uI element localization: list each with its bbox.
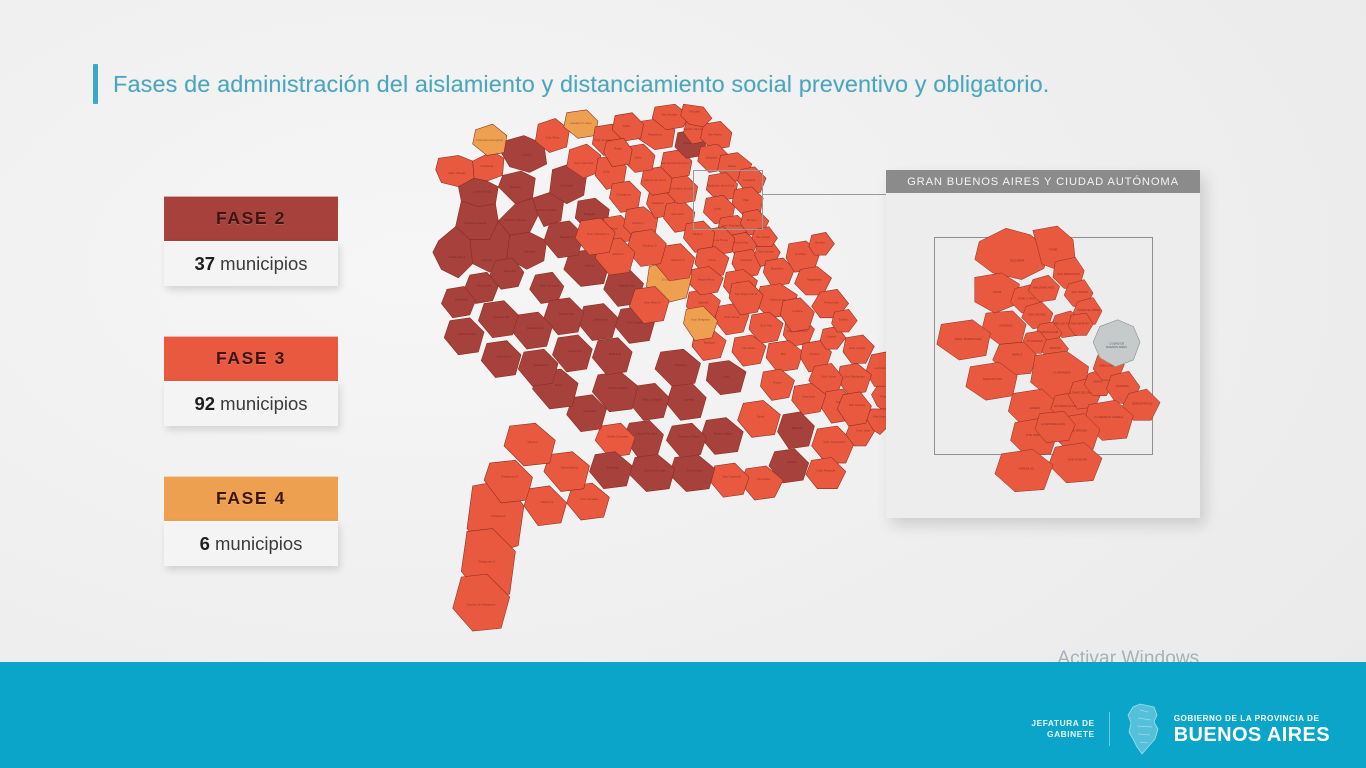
municipality-m92[interactable] bbox=[666, 383, 706, 420]
municipality-m88[interactable] bbox=[709, 463, 749, 497]
municipality-m101[interactable] bbox=[589, 452, 632, 489]
municipality-m121[interactable] bbox=[592, 338, 632, 375]
legend-card-header-fase-3: FASE 3 bbox=[164, 336, 338, 381]
legend-card-phase-label: FASE 4 bbox=[216, 488, 286, 509]
municipality-m109[interactable] bbox=[530, 272, 564, 303]
gba-choropleth-map[interactable]: ESCOBARTIGRESAN FERNANDOSAN ISIDROVICENT… bbox=[910, 217, 1178, 503]
municipality-m75[interactable] bbox=[706, 361, 746, 395]
slide-root: Fases de administración del aislamiento … bbox=[0, 0, 1366, 768]
gba-inset-panel[interactable]: GRAN BUENOS AIRES Y CIUDAD AUTÓNOMA ESCO… bbox=[886, 170, 1200, 518]
legend-card-count-text: 92 municipios bbox=[194, 393, 307, 415]
gba-inset-body: ESCOBARTIGRESAN FERNANDOSAN ISIDROVICENT… bbox=[886, 193, 1200, 518]
municipality-m02[interactable] bbox=[473, 151, 504, 181]
municipality-g30[interactable] bbox=[1048, 443, 1102, 483]
municipality-m91[interactable] bbox=[666, 423, 706, 457]
province-government-logo: GOBIERNO DE LA PROVINCIA DE BUENOS AIRES bbox=[1124, 702, 1330, 756]
municipality-m82[interactable] bbox=[738, 400, 781, 437]
municipality-m116[interactable] bbox=[478, 301, 518, 338]
municipality-m120[interactable] bbox=[552, 335, 592, 372]
legend-card-body-fase-3: 92 municipios bbox=[164, 381, 338, 426]
municipality-m65[interactable] bbox=[843, 335, 874, 363]
municipality-m104[interactable] bbox=[504, 423, 555, 466]
gba-map-svg: ESCOBARTIGRESAN FERNANDOSAN ISIDROVICENT… bbox=[910, 217, 1178, 503]
municipality-m83[interactable] bbox=[777, 412, 814, 449]
legend-card-header-fase-2: FASE 2 bbox=[164, 196, 338, 241]
municipality-m15[interactable] bbox=[473, 124, 507, 155]
legend-card-count-text: 37 municipios bbox=[194, 253, 307, 275]
municipality-m133[interactable] bbox=[524, 486, 567, 526]
legend-card-fase-4[interactable]: FASE 46 municipios bbox=[164, 476, 338, 566]
jefatura-line-2: GABINETE bbox=[1031, 729, 1094, 740]
municipality-m89[interactable] bbox=[669, 455, 715, 492]
title-accent-bar bbox=[93, 64, 98, 104]
municipality-m73[interactable] bbox=[760, 369, 794, 400]
gba-leader-line bbox=[762, 194, 890, 195]
legend-card-body-fase-2: 37 municipios bbox=[164, 241, 338, 286]
municipality-g31[interactable] bbox=[995, 449, 1053, 491]
municipality-g06[interactable] bbox=[975, 273, 1020, 313]
province-choropleth-map[interactable]: Gral. VillegasRivadaviaCarlos TejedorPeh… bbox=[410, 104, 880, 674]
municipality-g16[interactable] bbox=[937, 320, 991, 360]
legend-card-body-fase-4: 6 municipios bbox=[164, 521, 338, 566]
legend-card-count-number: 6 bbox=[200, 533, 210, 554]
legend-card-fase-2[interactable]: FASE 237 municipios bbox=[164, 196, 338, 286]
jefatura-line-1: JEFATURA DE bbox=[1031, 718, 1094, 729]
municipality-m93[interactable] bbox=[655, 349, 701, 386]
footer-bar: JEFATURA DE GABINETE GOBIERNO DE LA PROV… bbox=[0, 662, 1366, 768]
municipality-m90[interactable] bbox=[701, 417, 744, 454]
legend-card-phase-label: FASE 2 bbox=[216, 208, 286, 229]
province-logo-text: GOBIERNO DE LA PROVINCIA DE BUENOS AIRES bbox=[1174, 713, 1330, 746]
province-logo-superline: GOBIERNO DE LA PROVINCIA DE bbox=[1174, 713, 1330, 724]
legend-card-count-number: 92 bbox=[194, 393, 215, 414]
municipality-m119[interactable] bbox=[518, 349, 558, 386]
buenos-aires-province-silhouette-icon bbox=[1124, 702, 1164, 756]
legend-card-count-text: 6 municipios bbox=[200, 533, 303, 555]
page-title: Fases de administración del aislamiento … bbox=[93, 64, 1049, 104]
gba-highlight-box bbox=[693, 170, 763, 230]
municipality-m55[interactable] bbox=[795, 267, 832, 295]
footer-logo-group: JEFATURA DE GABINETE GOBIERNO DE LA PROV… bbox=[1031, 702, 1330, 756]
legend-card-header-fase-4: FASE 4 bbox=[164, 476, 338, 521]
legend-card-fase-3[interactable]: FASE 392 municipios bbox=[164, 336, 338, 426]
province-map-svg: Gral. VillegasRivadaviaCarlos TejedorPeh… bbox=[410, 104, 880, 674]
jefatura-de-gabinete-logo: JEFATURA DE GABINETE bbox=[1031, 718, 1094, 740]
legend-card-count-number: 37 bbox=[194, 253, 215, 274]
page-title-text: Fases de administración del aislamiento … bbox=[113, 64, 1049, 104]
municipality-m118[interactable] bbox=[481, 341, 521, 378]
logo-divider bbox=[1109, 712, 1110, 746]
municipality-m64[interactable] bbox=[832, 309, 858, 332]
municipality-m54[interactable] bbox=[809, 232, 835, 255]
gba-inset-header: GRAN BUENOS AIRES Y CIUDAD AUTÓNOMA bbox=[886, 170, 1200, 193]
province-logo-mainline: BUENOS AIRES bbox=[1174, 724, 1330, 746]
legend-card-phase-label: FASE 3 bbox=[216, 348, 286, 369]
municipality-m117[interactable] bbox=[444, 318, 484, 355]
municipality-m113[interactable] bbox=[578, 304, 618, 341]
gba-inset-header-label: GRAN BUENOS AIRES Y CIUDAD AUTÓNOMA bbox=[907, 176, 1179, 188]
municipality-m97[interactable] bbox=[629, 455, 675, 492]
province-municipality-layer: Gral. VillegasRivadaviaCarlos TejedorPeh… bbox=[433, 104, 897, 631]
